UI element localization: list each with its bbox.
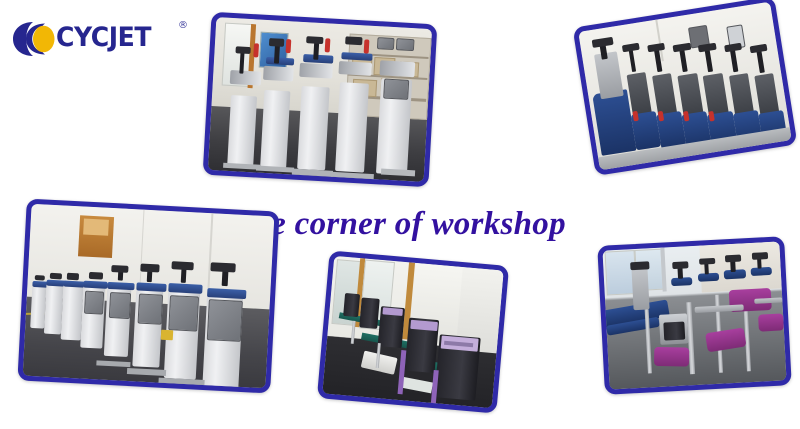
photo-top-right-scene	[578, 2, 792, 171]
cycjet-logo: CYCJET ®	[12, 18, 192, 62]
logo-wordmark: CYCJET	[56, 21, 151, 55]
cycjet-crescent-logo-icon	[12, 20, 60, 58]
photo-bottom-center-scene	[322, 256, 503, 408]
photo-bottom-left-scene	[23, 204, 275, 388]
photo-bottom-right	[597, 236, 792, 395]
photo-bottom-left	[17, 199, 279, 394]
registered-trademark-icon: ®	[178, 21, 188, 31]
photo-top-left	[203, 12, 438, 187]
photo-top-right	[573, 0, 798, 176]
photo-bottom-center	[317, 250, 509, 413]
photo-bottom-right-scene	[602, 241, 786, 389]
photo-top-left-scene	[208, 17, 432, 182]
banner-canvas: CYCJET ® the corner of workshop	[0, 0, 800, 429]
headline-text: the corner of workshop	[243, 205, 566, 243]
